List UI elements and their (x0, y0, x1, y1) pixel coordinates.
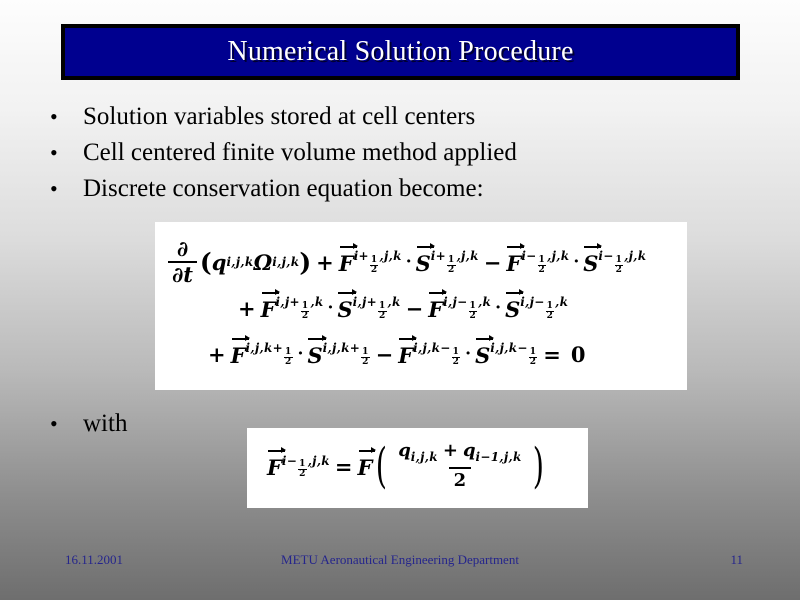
slide-canvas: Numerical Solution Procedure • Solution … (0, 0, 800, 600)
sub-pre: i,j− (443, 295, 467, 309)
equals-operator: = (538, 342, 566, 367)
one-half-fraction: 12 (361, 348, 370, 367)
flux-vector-symbol: F (267, 452, 282, 480)
half-num: 1 (538, 256, 547, 265)
half-num: 1 (361, 348, 370, 357)
dot-product-operator: · (294, 344, 308, 364)
sub-post: ,k (310, 295, 323, 309)
one-half-fraction: 12 (469, 302, 478, 321)
one-half-fraction: 12 (370, 256, 379, 275)
list-item: • Solution variables stored at cell cent… (50, 99, 517, 135)
one-half-fraction: 12 (298, 460, 307, 479)
half-den: 2 (284, 357, 293, 367)
open-paren: ( (200, 248, 212, 277)
one-half-fraction: 12 (546, 302, 555, 321)
slide-footer: 16.11.2001 METU Aeronautical Engineering… (0, 550, 800, 574)
one-half-fraction: 12 (301, 302, 310, 321)
surface-vector-symbol: S (416, 248, 431, 276)
surface-vector-symbol: S (475, 340, 490, 368)
sub-post: ,j,k (547, 249, 569, 263)
equals-operator: = (330, 454, 358, 479)
sub-pre: i,j,k− (413, 341, 450, 355)
close-paren: ) (299, 248, 311, 277)
footer-organization: METU Aeronautical Engineering Department (0, 552, 800, 568)
half-num: 1 (529, 348, 538, 357)
average-fraction: qi,j,k+qi−1,j,k 2 (393, 441, 526, 492)
half-den: 2 (447, 265, 456, 275)
flux-vector-symbol: F (339, 248, 354, 276)
half-den: 2 (452, 357, 461, 367)
one-half-fraction: 12 (615, 256, 624, 275)
zero-value: 0 (566, 342, 591, 367)
half-den: 2 (469, 311, 478, 321)
sub-pre: i− (598, 249, 613, 263)
equation-flux-average: F i−12,j,k = F ( qi,j,k+qi−1,j,k 2 ) (267, 441, 547, 492)
fraction-numerator: qi,j,k+qi−1,j,k (393, 441, 526, 467)
minus-operator: − (371, 342, 399, 367)
S-subscript: i+12,j,k (431, 249, 479, 274)
S-subscript: i−12,j,k (598, 249, 646, 274)
sub-post: ,j,k (379, 249, 401, 263)
dot-product-operator: · (461, 344, 475, 364)
half-den: 2 (361, 357, 370, 367)
sub-pre: i,j+ (276, 295, 300, 309)
flux-vector-symbol: F (231, 340, 246, 368)
dot-product-operator: · (491, 298, 505, 318)
sub-post: ,k (388, 295, 401, 309)
one-half-fraction: 12 (452, 348, 461, 367)
half-den: 2 (529, 357, 538, 367)
plus-operator: + (438, 440, 463, 461)
bullet-marker-icon: • (50, 135, 83, 171)
equation-line-2: + F i,j+12,k · S i,j+12,k − F i,j−12,k ·… (233, 294, 568, 322)
equation-line-1: ∂ ∂t ( q i,j,k Ω i,j,k ) + F i+12,j,k · … (165, 238, 646, 286)
one-half-fraction: 12 (447, 256, 456, 275)
F-subscript: i−12,j,k (282, 454, 330, 479)
half-den: 2 (378, 311, 387, 321)
footer-page-number: 11 (730, 552, 743, 568)
F-subscript: i−12,j,k (521, 249, 569, 274)
omega-symbol: Ω (254, 250, 273, 275)
list-item: • with (50, 406, 127, 442)
half-num: 1 (301, 302, 310, 311)
q-subscript: i−1,j,k (476, 451, 522, 465)
q-symbol: q (463, 440, 476, 461)
flux-vector-symbol: F (428, 294, 443, 322)
close-paren: ) (532, 447, 543, 485)
half-den: 2 (546, 311, 555, 321)
half-num: 1 (452, 348, 461, 357)
bullet-text: Solution variables stored at cell center… (83, 99, 475, 135)
list-item: • Cell centered finite volume method app… (50, 135, 517, 171)
open-paren: ( (376, 447, 387, 485)
flux-vector-symbol: F (398, 340, 413, 368)
half-num: 1 (284, 348, 293, 357)
F-symbol: F (261, 297, 276, 322)
F-subscript: i,j−12,k (443, 295, 491, 320)
dot-product-operator: · (402, 252, 416, 272)
S-symbol: S (337, 297, 352, 322)
omega-subscript: i,j,k (272, 255, 299, 269)
flux-vector-symbol: F (506, 248, 521, 276)
half-num: 1 (370, 256, 379, 265)
one-half-fraction: 12 (284, 348, 293, 367)
S-subscript: i,j,k−12 (490, 341, 538, 366)
half-num: 1 (546, 302, 555, 311)
equation-panel-secondary: F i−12,j,k = F ( qi,j,k+qi−1,j,k 2 ) (247, 428, 588, 508)
bullet-text: with (83, 406, 127, 442)
sub-post: ,k (555, 295, 568, 309)
sub-post: ,j,k (624, 249, 646, 263)
F-subscript: i,j,k+12 (246, 341, 294, 366)
half-num: 1 (469, 302, 478, 311)
S-subscript: i,j+12,k (353, 295, 401, 320)
flux-vector-symbol: F (261, 294, 276, 322)
page-title: Numerical Solution Procedure (227, 36, 573, 68)
one-half-fraction: 12 (538, 256, 547, 275)
sub-pre: i,j+ (353, 295, 377, 309)
half-num: 1 (378, 302, 387, 311)
partial-denominator: ∂t (168, 261, 197, 286)
equation-panel-primary: ∂ ∂t ( q i,j,k Ω i,j,k ) + F i+12,j,k · … (155, 222, 687, 390)
bullet-marker-icon: • (50, 406, 83, 442)
sub-pre: i,j,k+ (323, 341, 360, 355)
bullet-list-with: • with (50, 406, 127, 442)
plus-operator: + (203, 342, 231, 367)
surface-vector-symbol: S (505, 294, 520, 322)
minus-operator: − (479, 250, 507, 275)
dot-product-operator: · (324, 298, 338, 318)
S-symbol: S (307, 343, 322, 368)
partial-derivative-fraction: ∂ ∂t (168, 238, 197, 286)
dot-product-operator: · (569, 252, 583, 272)
S-subscript: i,j−12,k (520, 295, 568, 320)
bullet-text: Cell centered finite volume method appli… (83, 135, 517, 171)
F-symbol: F (506, 251, 521, 276)
sub-post: ,j,k (457, 249, 479, 263)
bullet-list: • Solution variables stored at cell cent… (50, 99, 517, 207)
half-den: 2 (538, 265, 547, 275)
S-symbol: S (583, 251, 598, 276)
half-den: 2 (615, 265, 624, 275)
one-half-fraction: 12 (529, 348, 538, 367)
half-num: 1 (298, 460, 307, 469)
fraction-denominator: 2 (449, 467, 472, 492)
sub-pre: i,j,k+ (246, 341, 283, 355)
sub-post: ,j,k (308, 454, 330, 468)
F-symbol: F (428, 297, 443, 322)
half-den: 2 (370, 265, 379, 275)
sub-post: ,k (478, 295, 491, 309)
bullet-text: Discrete conservation equation become: (83, 171, 484, 207)
F-symbol: F (358, 455, 373, 480)
q-symbol: q (212, 250, 227, 275)
S-symbol: S (505, 297, 520, 322)
q-subscript: i,j,k (226, 255, 253, 269)
sub-pre: i+ (354, 249, 369, 263)
partial-numerator: ∂ (173, 238, 192, 261)
minus-operator: − (401, 296, 429, 321)
list-item: • Discrete conservation equation become: (50, 171, 517, 207)
sub-pre: i− (282, 454, 297, 468)
F-symbol: F (339, 251, 354, 276)
plus-operator: + (311, 250, 339, 275)
flux-function-symbol: F (358, 452, 373, 480)
surface-vector-symbol: S (337, 294, 352, 322)
sub-pre: i,j− (520, 295, 544, 309)
S-symbol: S (475, 343, 490, 368)
F-symbol: F (398, 343, 413, 368)
bullet-marker-icon: • (50, 99, 83, 135)
F-symbol: F (267, 455, 282, 480)
half-den: 2 (298, 469, 307, 479)
F-subscript: i,j+12,k (276, 295, 324, 320)
equation-line-3: + F i,j,k+12 · S i,j,k+12 − F i,j,k−12 ·… (203, 340, 590, 368)
one-half-fraction: 12 (378, 302, 387, 321)
S-subscript: i,j,k+12 (323, 341, 371, 366)
half-num: 1 (447, 256, 456, 265)
q-symbol: q (398, 440, 411, 461)
sub-pre: i,j,k− (490, 341, 527, 355)
plus-operator: + (233, 296, 261, 321)
F-symbol: F (231, 343, 246, 368)
sub-pre: i− (521, 249, 536, 263)
half-den: 2 (301, 311, 310, 321)
bullet-marker-icon: • (50, 171, 83, 207)
half-num: 1 (615, 256, 624, 265)
F-subscript: i+12,j,k (354, 249, 402, 274)
surface-vector-symbol: S (307, 340, 322, 368)
sub-pre: i+ (431, 249, 446, 263)
slide-title-box: Numerical Solution Procedure (61, 24, 740, 80)
q-subscript: i,j,k (411, 451, 438, 465)
surface-vector-symbol: S (583, 248, 598, 276)
F-subscript: i,j,k−12 (413, 341, 461, 366)
S-symbol: S (416, 251, 431, 276)
